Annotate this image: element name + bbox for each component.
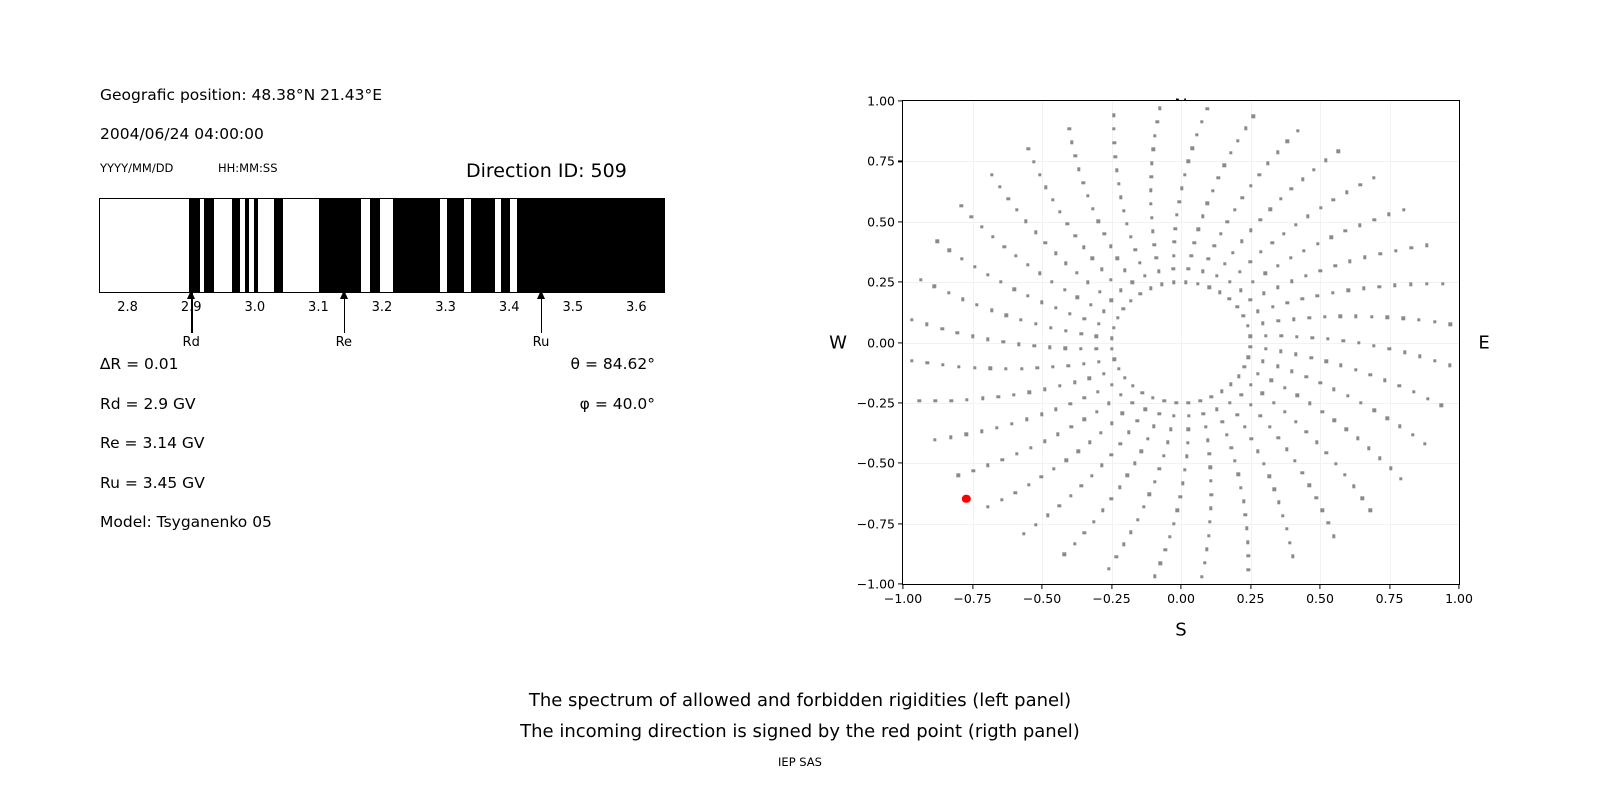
direction-point — [1064, 347, 1067, 350]
y-axis-tick-mark — [898, 221, 903, 222]
direction-point — [1138, 261, 1141, 264]
direction-point — [1389, 467, 1392, 470]
direction-point — [1056, 433, 1059, 436]
direction-point — [1236, 139, 1239, 142]
direction-point — [1162, 454, 1165, 457]
direction-point — [998, 185, 1001, 188]
spectrum-tick-label: 3.2 — [372, 300, 393, 315]
direction-point — [1209, 479, 1212, 482]
direction-point — [1216, 176, 1219, 179]
direction-point — [1248, 334, 1251, 337]
y-axis-tick-label: 0.50 — [867, 214, 895, 229]
direction-plot-canvas — [903, 101, 1459, 584]
direction-point — [1339, 364, 1342, 367]
direction-point — [1034, 523, 1037, 526]
y-axis-tick-label: 1.00 — [867, 94, 895, 109]
direction-point — [1086, 194, 1089, 197]
x-axis-tick-label: −1.00 — [884, 591, 922, 606]
direction-point — [1372, 218, 1375, 221]
direction-point — [1043, 440, 1046, 443]
direction-point — [1075, 271, 1078, 274]
direction-point — [956, 474, 959, 477]
direction-point — [1073, 542, 1076, 545]
direction-point — [1157, 412, 1160, 415]
direction-point — [1070, 141, 1073, 144]
direction-point — [1074, 234, 1077, 237]
direction-point — [1279, 350, 1282, 353]
direction-point — [1102, 310, 1105, 313]
direction-point — [1115, 169, 1118, 172]
direction-point — [1290, 370, 1293, 373]
direction-point — [1271, 305, 1274, 308]
direction-point — [1112, 113, 1115, 116]
direction-point — [1326, 337, 1329, 340]
direction-point — [1046, 514, 1049, 517]
direction-point — [1103, 232, 1106, 235]
direction-point — [1151, 396, 1154, 399]
direction-point — [1110, 422, 1113, 425]
direction-point — [1117, 367, 1120, 370]
direction-point — [1247, 355, 1250, 358]
direction-point — [1321, 509, 1324, 512]
direction-point — [1276, 365, 1279, 368]
marker-label: Ru — [533, 335, 550, 350]
direction-point — [1026, 147, 1029, 150]
direction-point — [1262, 462, 1265, 465]
direction-point — [1246, 540, 1249, 543]
direction-point — [999, 280, 1002, 283]
direction-point — [1286, 301, 1289, 304]
direction-point — [1187, 401, 1190, 404]
direction-point — [1289, 256, 1292, 259]
direction-point — [1112, 141, 1115, 144]
direction-point — [1241, 196, 1244, 199]
direction-point — [1256, 449, 1259, 452]
direction-point — [1149, 175, 1152, 178]
direction-point — [1306, 214, 1309, 217]
direction-point — [1238, 270, 1241, 273]
x-axis-tick-label: 0.00 — [1167, 591, 1195, 606]
direction-point — [1412, 390, 1415, 393]
forbidden-band — [204, 199, 214, 292]
selected-direction-point[interactable] — [962, 495, 970, 503]
direction-point — [1024, 220, 1027, 223]
time-format-hint: HH:MM:SS — [218, 161, 278, 175]
direction-point — [1064, 329, 1067, 332]
forbidden-band — [501, 199, 509, 292]
direction-point — [959, 204, 962, 207]
parameter-label-right: θ = 84.62° — [571, 355, 655, 373]
direction-point — [1146, 437, 1149, 440]
direction-point — [1220, 420, 1223, 423]
forbidden-band — [447, 199, 465, 292]
direction-point — [1341, 339, 1344, 342]
direction-point — [1180, 187, 1183, 190]
direction-point — [1063, 553, 1066, 556]
direction-point — [1109, 245, 1112, 248]
compass-label-west: W — [829, 333, 847, 354]
direction-point — [1086, 281, 1089, 284]
x-axis-tick-label: −0.75 — [953, 591, 991, 606]
rigidity-spectrum-panel: Geografic position: 48.38°N 21.43°E 2004… — [0, 0, 760, 660]
parameter-label-left: Model: Tsyganenko 05 — [100, 513, 272, 531]
direction-point — [1277, 319, 1280, 322]
direction-point — [1251, 280, 1254, 283]
parameter-row: Re = 3.14 GV — [100, 434, 665, 474]
direction-point — [990, 308, 993, 311]
direction-point — [1402, 208, 1405, 211]
direction-point — [1148, 493, 1151, 496]
direction-point — [1423, 442, 1426, 445]
direction-point — [1100, 268, 1103, 271]
direction-point — [1201, 215, 1204, 218]
direction-point — [1051, 198, 1054, 201]
y-axis-tick-mark — [898, 282, 903, 283]
direction-point — [1112, 127, 1115, 130]
direction-point — [1281, 514, 1284, 517]
direction-point — [1034, 231, 1037, 234]
direction-point — [1040, 413, 1043, 416]
direction-point — [1010, 422, 1013, 425]
direction-point — [1082, 362, 1085, 365]
direction-point — [1296, 129, 1299, 132]
direction-point — [1386, 316, 1389, 319]
direction-point — [1249, 345, 1252, 348]
direction-point — [1200, 120, 1203, 123]
direction-point — [1152, 148, 1155, 151]
forbidden-band — [471, 199, 495, 292]
direction-point — [1208, 452, 1211, 455]
direction-point — [1259, 414, 1262, 417]
direction-point — [1065, 459, 1068, 462]
direction-point — [1294, 223, 1297, 226]
direction-point — [1092, 520, 1095, 523]
direction-point — [1354, 368, 1357, 371]
spectrum-tick-label: 3.4 — [499, 300, 520, 315]
direction-point — [1334, 462, 1337, 465]
direction-point — [1098, 290, 1101, 293]
direction-id-label: Direction ID: 509 — [466, 160, 627, 182]
direction-point — [1245, 527, 1248, 530]
direction-point — [1070, 425, 1073, 428]
direction-point — [980, 429, 983, 432]
direction-point — [1262, 292, 1265, 295]
direction-point — [1249, 229, 1252, 232]
direction-point — [1236, 413, 1239, 416]
direction-point — [1372, 176, 1375, 179]
direction-point — [1410, 246, 1413, 249]
direction-point — [1119, 289, 1122, 292]
direction-point — [1195, 133, 1198, 136]
direction-point — [1343, 473, 1346, 476]
direction-point — [1149, 189, 1152, 192]
direction-point — [1302, 249, 1305, 252]
parameter-label-left: Re = 3.14 GV — [100, 434, 205, 452]
direction-point — [1133, 462, 1136, 465]
direction-point — [1243, 425, 1246, 428]
direction-point — [1044, 241, 1047, 244]
direction-point — [1301, 297, 1304, 300]
direction-point — [1208, 520, 1211, 523]
parameter-row: Ru = 3.45 GV — [100, 474, 665, 514]
direction-point — [1116, 316, 1119, 319]
direction-point — [1095, 335, 1098, 338]
direction-point — [1015, 208, 1018, 211]
direction-point — [1399, 477, 1402, 480]
direction-point — [1185, 455, 1188, 458]
direction-point — [1256, 372, 1259, 375]
direction-point — [1352, 485, 1355, 488]
direction-point — [1033, 344, 1036, 347]
direction-point — [1198, 399, 1201, 402]
direction-point — [1025, 417, 1028, 420]
direction-point — [1210, 395, 1213, 398]
direction-point — [1276, 286, 1279, 289]
direction-point — [1237, 375, 1240, 378]
direction-point — [1273, 488, 1276, 491]
spectrum-x-axis: 2.82.93.03.13.23.33.43.53.6RdReRu — [99, 293, 665, 353]
direction-point — [1040, 300, 1043, 303]
direction-point — [1316, 294, 1319, 297]
direction-point — [1441, 282, 1444, 285]
x-axis-tick-label: −0.50 — [1023, 591, 1061, 606]
direction-point — [1187, 414, 1190, 417]
direction-point — [1079, 332, 1082, 335]
direction-point — [1345, 191, 1348, 194]
direction-point — [1354, 315, 1357, 318]
direction-point — [1268, 475, 1271, 478]
direction-point — [1228, 401, 1231, 404]
direction-point — [1229, 383, 1232, 386]
direction-point — [1123, 376, 1126, 379]
direction-point — [1411, 433, 1414, 436]
direction-point — [1272, 401, 1275, 404]
direction-point — [1107, 402, 1110, 405]
direction-point — [1153, 134, 1156, 137]
marker-label: Rd — [183, 335, 200, 350]
direction-point — [1050, 280, 1053, 283]
direction-point — [1187, 267, 1190, 270]
direction-point — [1361, 496, 1364, 499]
direction-point — [910, 318, 913, 321]
direction-point — [1388, 347, 1391, 350]
direction-point — [1112, 357, 1115, 360]
direction-point — [1386, 416, 1389, 419]
direction-point — [1186, 441, 1189, 444]
direction-point — [1099, 431, 1102, 434]
direction-point — [1122, 543, 1125, 546]
direction-point — [1333, 418, 1336, 421]
direction-point — [1063, 288, 1066, 291]
spectrum-tick-label: 3.1 — [308, 300, 329, 315]
spectrum-bar — [99, 198, 665, 293]
direction-point — [1091, 207, 1094, 210]
direction-point — [1015, 452, 1018, 455]
direction-point — [1378, 456, 1381, 459]
direction-point — [1285, 527, 1288, 530]
direction-point — [1102, 372, 1105, 375]
direction-point — [1205, 107, 1208, 110]
rigidity-spectrum-chart — [99, 198, 665, 293]
y-axis-tick-label: −0.50 — [857, 456, 895, 471]
direction-point — [1040, 475, 1043, 478]
direction-point — [1233, 208, 1236, 211]
direction-point — [1244, 513, 1247, 516]
direction-point — [1069, 494, 1072, 497]
direction-point — [1362, 287, 1365, 290]
spectrum-tick-label: 3.0 — [244, 300, 265, 315]
direction-point — [1174, 401, 1177, 404]
direction-point — [947, 291, 950, 294]
direction-point — [1026, 263, 1029, 266]
direction-point — [1433, 359, 1436, 362]
direction-point — [1110, 337, 1113, 340]
direction-point — [973, 265, 976, 268]
direction-point — [1345, 427, 1348, 430]
direction-point — [1017, 342, 1020, 345]
direction-point — [1209, 466, 1212, 469]
spectrum-tick-label: 3.3 — [435, 300, 456, 315]
direction-point — [1164, 548, 1167, 551]
direction-point — [1239, 289, 1242, 292]
direction-point — [1191, 147, 1194, 150]
direction-point — [1261, 392, 1264, 395]
direction-point — [1294, 352, 1297, 355]
forbidden-band — [274, 199, 283, 292]
figure-root: Geografic position: 48.38°N 21.43°E 2004… — [0, 0, 1600, 800]
direction-point — [1005, 313, 1008, 316]
y-axis-tick-mark — [898, 161, 903, 162]
direction-point — [1240, 240, 1243, 243]
direction-point — [1119, 442, 1122, 445]
parameter-label-left: Ru = 3.45 GV — [100, 474, 205, 492]
direction-point — [1081, 181, 1084, 184]
direction-point — [935, 240, 938, 243]
direction-point — [1183, 173, 1186, 176]
direction-point — [1282, 232, 1285, 235]
direction-point — [1276, 264, 1279, 267]
direction-point — [1156, 120, 1159, 123]
direction-plot-frame: −1.00−0.75−0.50−0.250.000.250.500.751.00… — [902, 100, 1460, 585]
direction-point — [1083, 317, 1086, 320]
direction-point — [1027, 483, 1030, 486]
forbidden-band — [517, 199, 665, 292]
direction-point — [1291, 555, 1294, 558]
parameter-row: Model: Tsyganenko 05 — [100, 513, 665, 553]
direction-point — [1002, 245, 1005, 248]
direction-point — [1220, 390, 1223, 393]
direction-point — [1324, 360, 1327, 363]
direction-point — [1004, 367, 1007, 370]
direction-point — [1223, 164, 1226, 167]
marker-arrow-icon — [537, 290, 545, 299]
direction-point — [995, 426, 998, 429]
direction-point — [1193, 241, 1196, 244]
parameter-label-left: ∆R = 0.01 — [100, 355, 179, 373]
direction-point — [986, 273, 989, 276]
direction-point — [997, 395, 1000, 398]
direction-point — [1246, 324, 1249, 327]
direction-point — [1205, 548, 1208, 551]
direction-point — [1169, 428, 1172, 431]
direction-point — [919, 278, 922, 281]
direction-point — [1387, 213, 1390, 216]
direction-point — [1249, 383, 1252, 386]
direction-point — [1247, 554, 1250, 557]
direction-point — [1026, 294, 1029, 297]
y-axis-tick-label: 0.25 — [867, 275, 895, 290]
direction-point — [1290, 187, 1293, 190]
direction-point — [1133, 248, 1136, 251]
direction-point — [1233, 459, 1236, 462]
direction-point — [1332, 534, 1335, 537]
direction-point — [1425, 282, 1428, 285]
direction-point — [1336, 150, 1339, 153]
direction-point — [1112, 326, 1115, 329]
direction-point — [956, 331, 959, 334]
direction-point — [1292, 318, 1295, 321]
direction-point — [1383, 378, 1386, 381]
direction-point — [1197, 228, 1200, 231]
direction-point — [1277, 501, 1280, 504]
direction-point — [1119, 196, 1122, 199]
direction-point — [1144, 408, 1147, 411]
direction-point — [986, 464, 989, 467]
direction-point — [941, 363, 944, 366]
direction-point — [1300, 471, 1303, 474]
direction-point — [1295, 335, 1298, 338]
direction-point — [1082, 245, 1085, 248]
direction-point — [1369, 508, 1372, 511]
direction-point — [1279, 334, 1282, 337]
direction-point — [1372, 344, 1375, 347]
direction-point — [1179, 495, 1182, 498]
direction-point — [1022, 532, 1025, 535]
direction-point — [1339, 315, 1342, 318]
direction-point — [1149, 287, 1152, 290]
direction-point — [1229, 446, 1232, 449]
direction-point — [1242, 499, 1245, 502]
direction-point — [1314, 496, 1317, 499]
grid-line-horizontal — [903, 222, 1459, 223]
direction-point — [1088, 377, 1091, 380]
direction-point — [1208, 286, 1211, 289]
direction-point — [1236, 305, 1239, 308]
direction-point — [1119, 393, 1122, 396]
direction-point — [965, 398, 968, 401]
direction-point — [1142, 505, 1145, 508]
direction-point — [1277, 436, 1280, 439]
direction-point — [1239, 486, 1242, 489]
direction-point — [1301, 177, 1304, 180]
direction-point — [1152, 425, 1155, 428]
direction-point — [1048, 346, 1051, 349]
x-axis-tick-label: 1.00 — [1445, 591, 1473, 606]
direction-point — [910, 359, 913, 362]
grid-line-horizontal — [903, 282, 1459, 283]
direction-point — [1129, 235, 1132, 238]
marker-arrow-icon — [340, 290, 348, 299]
direction-point — [1269, 207, 1272, 210]
direction-point — [1270, 379, 1273, 382]
direction-point — [971, 334, 974, 337]
x-axis-tick-mark — [1458, 584, 1459, 589]
direction-point — [1394, 249, 1397, 252]
x-axis-tick-mark — [972, 584, 973, 589]
direction-point — [948, 248, 951, 251]
direction-point — [1417, 318, 1420, 321]
direction-point — [1115, 555, 1118, 558]
